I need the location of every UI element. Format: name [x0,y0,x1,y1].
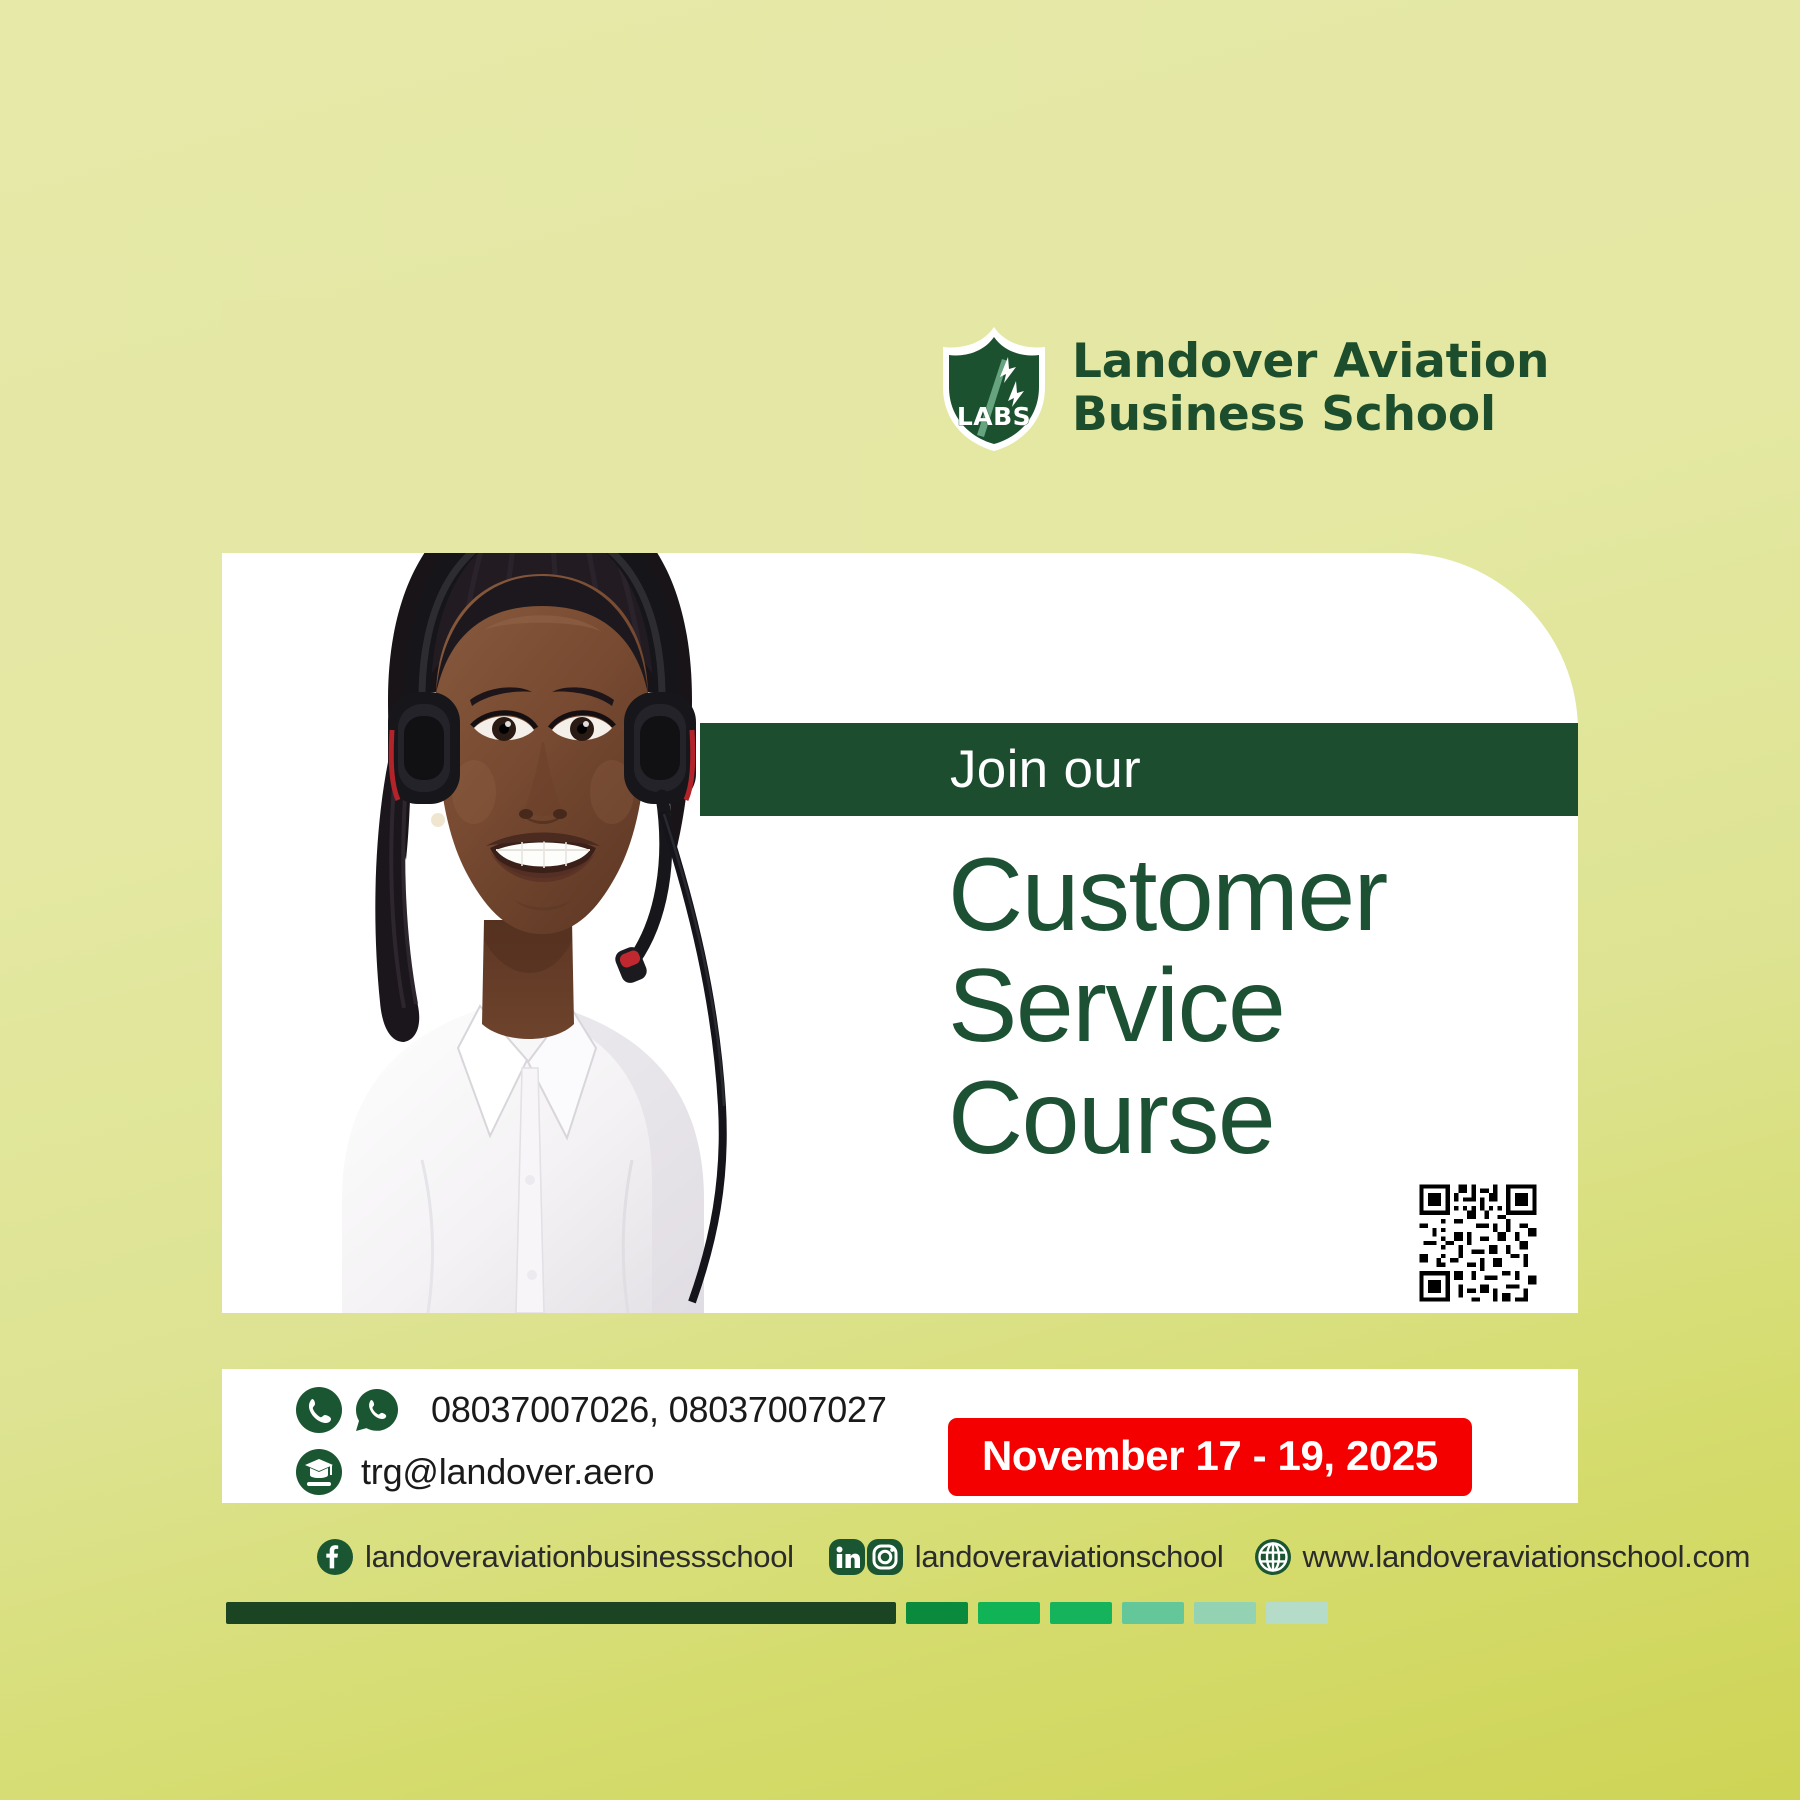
bottom-accent-bar [226,1602,1328,1624]
course-dates: November 17 - 19, 2025 [982,1432,1438,1480]
course-title: Customer Service Course [948,840,1568,1174]
accent-segment-7 [1266,1602,1328,1624]
globe-icon[interactable] [1254,1538,1292,1576]
accent-segment-3 [978,1602,1040,1624]
email-address: trg@landover.aero [361,1451,654,1493]
course-title-line-2: Service [948,951,1568,1062]
phone-icon[interactable] [295,1386,343,1434]
whatsapp-icon[interactable] [353,1386,401,1434]
social-item-linkedin-instagram[interactable]: landoveraviationschool [828,1538,1224,1576]
join-banner: Join our [700,723,1578,816]
accent-segment-2 [906,1602,968,1624]
join-label: Join our [950,739,1141,800]
instagram-icon[interactable] [866,1538,904,1576]
facebook-icon[interactable] [316,1538,354,1576]
flyer-canvas: LABS Landover Aviation Business School [0,0,1800,1800]
contact-list: 08037007026, 08037007027 trg@landover.ae… [295,1386,887,1496]
shield-labs-icon: LABS [938,325,1050,453]
brand-logo-lockup: LABS Landover Aviation Business School [938,325,1549,453]
phone-numbers: 08037007026, 08037007027 [431,1389,887,1431]
brand-line-2: Business School [1072,387,1496,442]
contact-row-phone: 08037007026, 08037007027 [295,1386,887,1434]
course-title-line-1: Customer [948,840,1568,951]
contact-row-email: trg@landover.aero [295,1448,887,1496]
facebook-handle: landoveraviationbusinessschool [365,1539,794,1575]
accent-segment-5 [1122,1602,1184,1624]
graduation-cap-icon[interactable] [295,1448,343,1496]
social-links-row: landoveraviationbusinessschool [316,1533,1750,1581]
accent-segment-4 [1050,1602,1112,1624]
website-url: www.landoveraviationschool.com [1303,1539,1751,1575]
course-title-line-3: Course [948,1063,1568,1174]
date-badge: November 17 - 19, 2025 [948,1418,1472,1496]
social-item-website[interactable]: www.landoveraviationschool.com [1254,1538,1751,1576]
linkedin-icon[interactable] [828,1538,866,1576]
accent-segment-6 [1194,1602,1256,1624]
brand-name: Landover Aviation Business School [1072,336,1549,441]
instagram-handle: landoveraviationschool [915,1539,1224,1575]
accent-segment-1 [226,1602,896,1624]
social-item-facebook[interactable]: landoveraviationbusinessschool [316,1538,794,1576]
svg-text:LABS: LABS [957,402,1031,431]
qr-code-icon[interactable] [1415,1180,1541,1306]
brand-line-1: Landover Aviation [1072,334,1549,389]
